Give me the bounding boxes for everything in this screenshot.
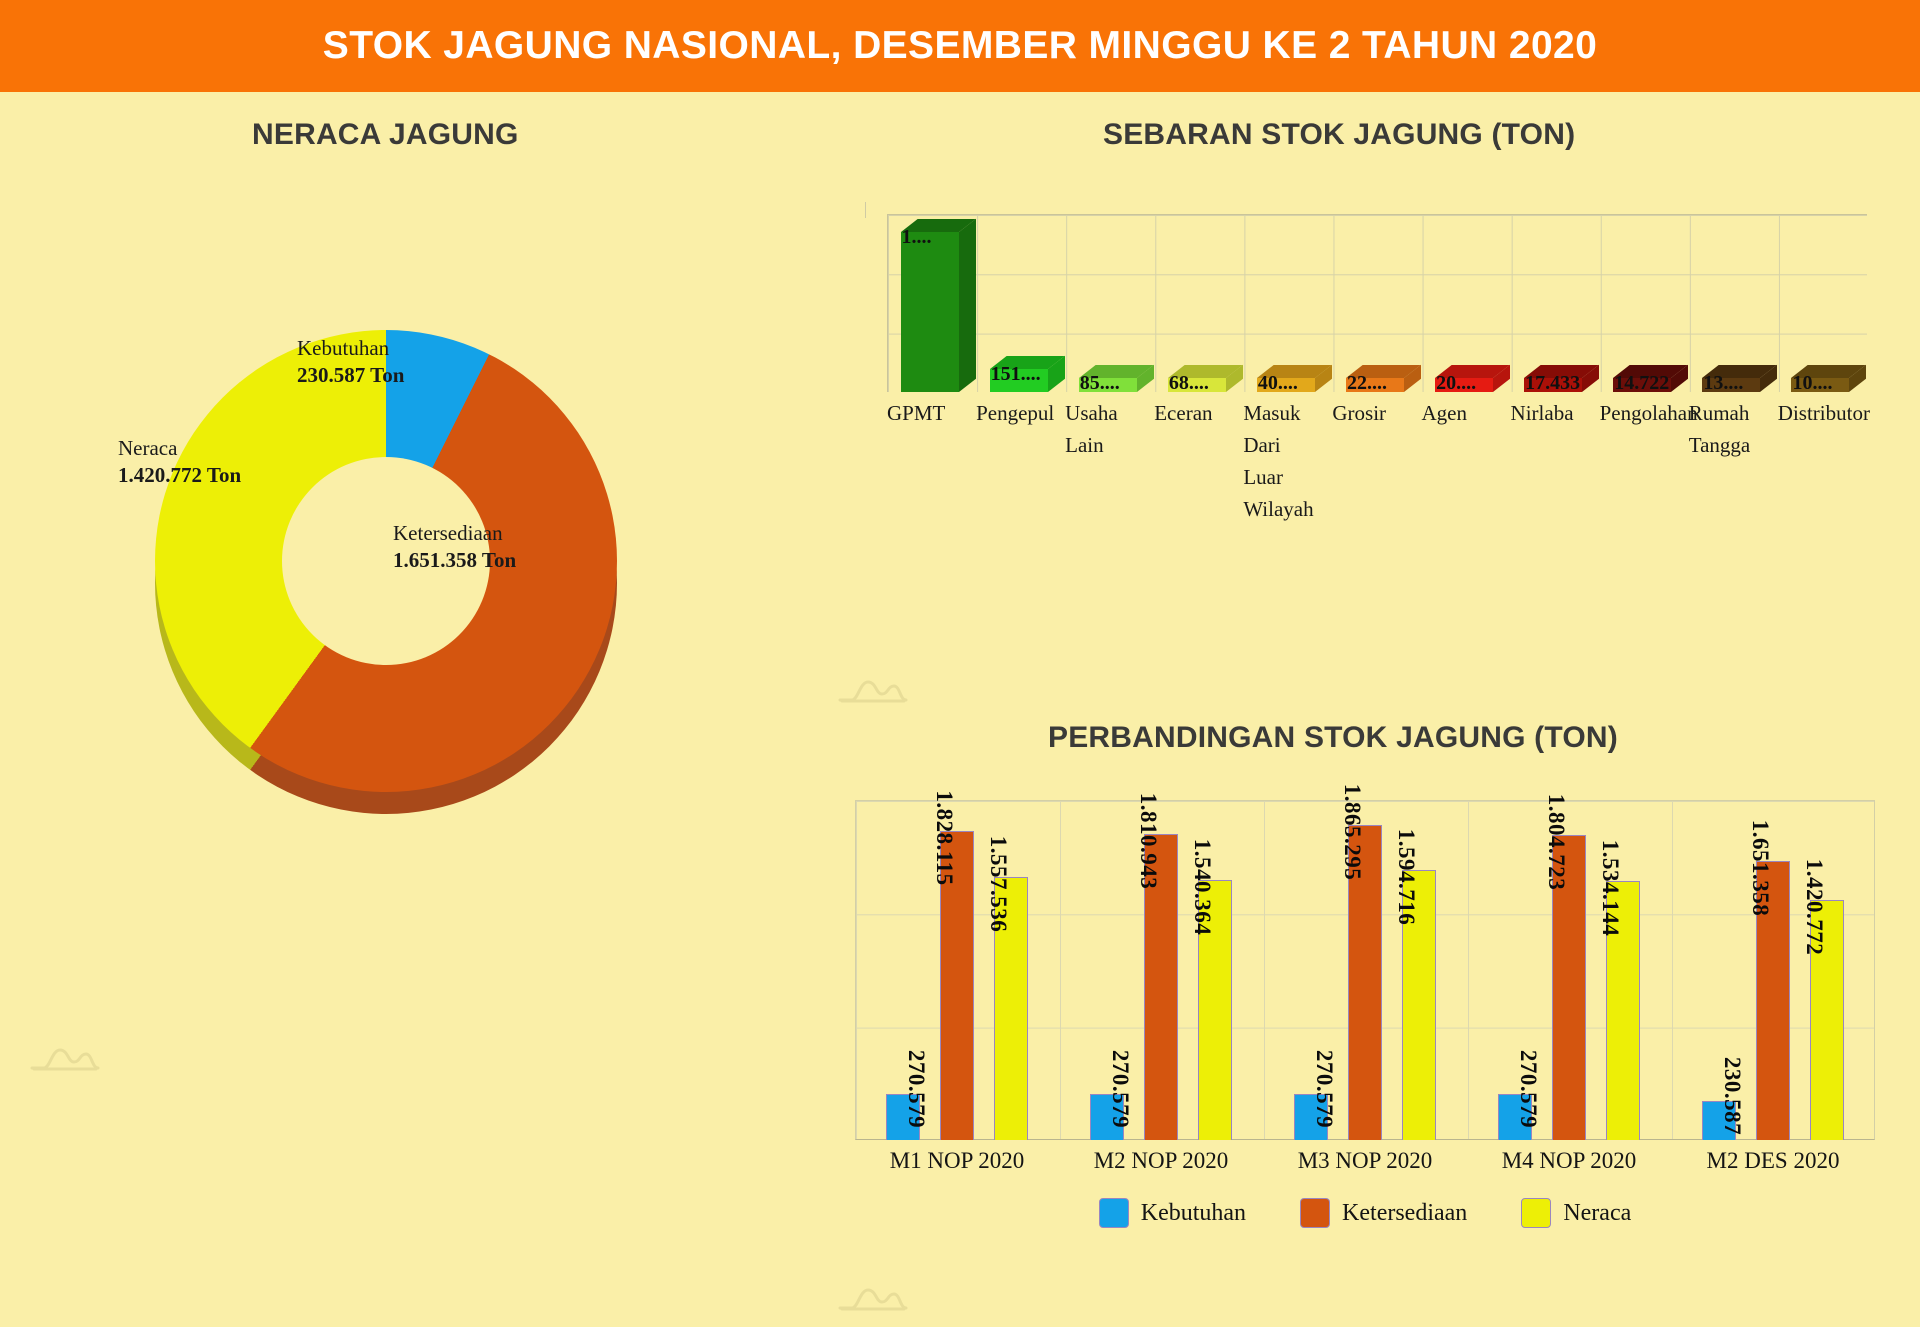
perbandingan-bar-value-label: 270.579: [1515, 1050, 1541, 1128]
perbandingan-bar-neraca: 1.540.364: [1198, 880, 1232, 1140]
perbandingan-bar-value-label: 1.810.943: [1135, 793, 1161, 890]
mountain-icon: [838, 672, 908, 711]
sebaran-bar-value-label: 85....: [1080, 372, 1120, 395]
perbandingan-bar-value-label: 1.534.144: [1597, 840, 1623, 937]
perbandingan-bar-group: 270.5791.828.1151.557.536: [855, 800, 1059, 1140]
perbandingan-bar-chart: 270.5791.828.1151.557.536270.5791.810.94…: [845, 790, 1885, 1050]
sebaran-3d-backwall: [865, 202, 891, 218]
perbandingan-x-label: M2 DES 2020: [1671, 1148, 1875, 1174]
mountain-icon: [30, 1040, 100, 1079]
sebaran-bar-value-label: 20....: [1436, 372, 1476, 395]
perbandingan-bar-group: 270.5791.865.2951.594.716: [1263, 800, 1467, 1140]
perbandingan-bar-group: 230.5871.651.3581.420.772: [1671, 800, 1875, 1140]
perbandingan-bar-groups: 270.5791.828.1151.557.536270.5791.810.94…: [855, 800, 1875, 1140]
perbandingan-bar-group: 270.5791.810.9431.540.364: [1059, 800, 1263, 1140]
donut-face: [155, 330, 617, 792]
legend-label: Ketersediaan: [1342, 1200, 1467, 1227]
legend-swatch: [1099, 1198, 1129, 1228]
perbandingan-x-label: M3 NOP 2020: [1263, 1148, 1467, 1174]
perbandingan-bar-value-label: 1.557.536: [985, 836, 1011, 933]
sebaran-bar-value-label: 40....: [1258, 372, 1298, 395]
infographic-page: STOK JAGUNG NASIONAL, DESEMBER MINGGU KE…: [0, 0, 1920, 1327]
perbandingan-bar-kebutuhan: 270.579: [1294, 1094, 1328, 1140]
section-title-perbandingan: PERBANDINGAN STOK JAGUNG (TON): [1048, 721, 1618, 755]
perbandingan-bar-ketersediaan: 1.828.115: [940, 831, 974, 1140]
perbandingan-bar-kebutuhan: 270.579: [1090, 1094, 1124, 1140]
section-title-neraca: NERACA JAGUNG: [252, 118, 519, 152]
sebaran-plot-area: 1....151....85....68....40....22....20..…: [857, 202, 1867, 392]
perbandingan-bar-value-label: 1.594.716: [1393, 829, 1419, 926]
sebaran-x-label: Eceran: [1154, 398, 1243, 568]
donut-label-kebutuhan: Kebutuhan 230.587 Ton: [297, 335, 404, 389]
perbandingan-bar-neraca: 1.534.144: [1606, 881, 1640, 1140]
sebaran-bar-front: [901, 232, 959, 392]
sebaran-bar: 10....: [1791, 378, 1849, 392]
perbandingan-bar-neraca: 1.557.536: [994, 877, 1028, 1140]
perbandingan-bar-kebutuhan: 230.587: [1702, 1101, 1736, 1140]
legend-item-kebutuhan[interactable]: Kebutuhan: [1099, 1198, 1246, 1228]
donut-label-kebutuhan-name: Kebutuhan: [297, 335, 404, 362]
mountain-icon: [838, 1280, 908, 1319]
perbandingan-bar-value-label: 1.828.115: [931, 790, 957, 885]
donut-label-ketersediaan-name: Ketersediaan: [393, 520, 516, 547]
sebaran-x-axis-labels: GPMTPengepulUsaha LainEceranMasuk Dari L…: [887, 398, 1877, 568]
sebaran-x-label: Distributor: [1778, 398, 1867, 568]
sebaran-bar: 85....: [1079, 378, 1137, 392]
donut-label-neraca-value: 1.420.772 Ton: [118, 462, 241, 489]
perbandingan-x-label: M4 NOP 2020: [1467, 1148, 1671, 1174]
legend-item-ketersediaan[interactable]: Ketersediaan: [1300, 1198, 1467, 1228]
sebaran-bar-value-label: 1....: [902, 226, 932, 249]
sebaran-bar: 20....: [1435, 378, 1493, 392]
sebaran-bar-value-label: 68....: [1169, 372, 1209, 395]
sebaran-x-label: Nirlaba: [1511, 398, 1600, 568]
perbandingan-bar-neraca: 1.594.716: [1402, 870, 1436, 1140]
sebaran-bar: 151....: [990, 369, 1048, 392]
perbandingan-bar-value-label: 270.579: [903, 1050, 929, 1128]
sebaran-bar-value-label: 14.722: [1614, 372, 1669, 395]
perbandingan-legend: KebutuhanKetersediaanNeraca: [855, 1198, 1875, 1228]
section-title-sebaran: SEBARAN STOK JAGUNG (TON): [1103, 118, 1575, 152]
sebaran-bar: 1....: [901, 232, 959, 392]
sebaran-x-label: Pengepul: [976, 398, 1065, 568]
sebaran-bar-value-label: 10....: [1792, 372, 1832, 395]
sebaran-x-label: Grosir: [1332, 398, 1421, 568]
sebaran-bar-chart: 1....151....85....68....40....22....20..…: [845, 180, 1885, 580]
perbandingan-bar-value-label: 1.865.295: [1339, 784, 1365, 881]
perbandingan-x-axis-labels: M1 NOP 2020M2 NOP 2020M3 NOP 2020M4 NOP …: [855, 1148, 1875, 1174]
sebaran-bar-value-label: 151....: [991, 363, 1041, 386]
sebaran-bar: 17.433: [1524, 378, 1582, 392]
sebaran-x-label: Usaha Lain: [1065, 398, 1154, 568]
perbandingan-bar-kebutuhan: 270.579: [1498, 1094, 1532, 1140]
legend-swatch: [1300, 1198, 1330, 1228]
sebaran-bar: 40....: [1257, 378, 1315, 392]
perbandingan-bar-value-label: 230.587: [1719, 1057, 1745, 1135]
sebaran-x-label: Pengolahan: [1600, 398, 1689, 568]
perbandingan-x-label: M2 NOP 2020: [1059, 1148, 1263, 1174]
header-banner: STOK JAGUNG NASIONAL, DESEMBER MINGGU KE…: [0, 0, 1920, 92]
perbandingan-bar-value-label: 270.579: [1107, 1050, 1133, 1128]
sebaran-x-label: Agen: [1421, 398, 1510, 568]
sebaran-bar: 22....: [1346, 378, 1404, 392]
perbandingan-bar-value-label: 1.420.772: [1801, 859, 1827, 956]
donut-label-neraca: Neraca 1.420.772 Ton: [118, 435, 241, 489]
donut-label-ketersediaan-value: 1.651.358 Ton: [393, 547, 516, 574]
legend-swatch: [1521, 1198, 1551, 1228]
sebaran-bar-side: [959, 219, 976, 392]
perbandingan-bar-ketersediaan: 1.865.295: [1348, 825, 1382, 1140]
legend-label: Neraca: [1563, 1200, 1631, 1227]
sebaran-x-label: Masuk Dari Luar Wilayah: [1243, 398, 1332, 568]
neraca-donut-chart: Kebutuhan 230.587 Ton Neraca 1.420.772 T…: [60, 280, 760, 920]
perbandingan-bar-ketersediaan: 1.810.943: [1144, 834, 1178, 1140]
sebaran-bar-value-label: 13....: [1703, 372, 1743, 395]
donut-label-kebutuhan-value: 230.587 Ton: [297, 362, 404, 389]
page-title: STOK JAGUNG NASIONAL, DESEMBER MINGGU KE…: [323, 24, 1597, 68]
donut-label-neraca-name: Neraca: [118, 435, 241, 462]
perbandingan-bar-neraca: 1.420.772: [1810, 900, 1844, 1140]
sebaran-bar-value-label: 22....: [1347, 372, 1387, 395]
perbandingan-x-label: M1 NOP 2020: [855, 1148, 1059, 1174]
perbandingan-bar-kebutuhan: 270.579: [886, 1094, 920, 1140]
perbandingan-bar-value-label: 1.540.364: [1189, 839, 1215, 936]
perbandingan-bar-ketersediaan: 1.804.723: [1552, 835, 1586, 1140]
perbandingan-bar-value-label: 1.651.358: [1747, 820, 1773, 917]
legend-item-neraca[interactable]: Neraca: [1521, 1198, 1631, 1228]
sebaran-bar: 68....: [1168, 378, 1226, 392]
donut-label-ketersediaan: Ketersediaan 1.651.358 Ton: [393, 520, 516, 574]
sebaran-x-label: Rumah Tangga: [1689, 398, 1778, 568]
sebaran-x-label: GPMT: [887, 398, 976, 568]
legend-label: Kebutuhan: [1141, 1200, 1246, 1227]
sebaran-bar: 14.722: [1613, 378, 1671, 392]
sebaran-bar-value-label: 17.433: [1525, 372, 1580, 395]
sebaran-bar: 13....: [1702, 378, 1760, 392]
perbandingan-bar-ketersediaan: 1.651.358: [1756, 861, 1790, 1140]
perbandingan-bar-group: 270.5791.804.7231.534.144: [1467, 800, 1671, 1140]
perbandingan-bar-value-label: 270.579: [1311, 1050, 1337, 1128]
perbandingan-bar-value-label: 1.804.723: [1543, 794, 1569, 891]
